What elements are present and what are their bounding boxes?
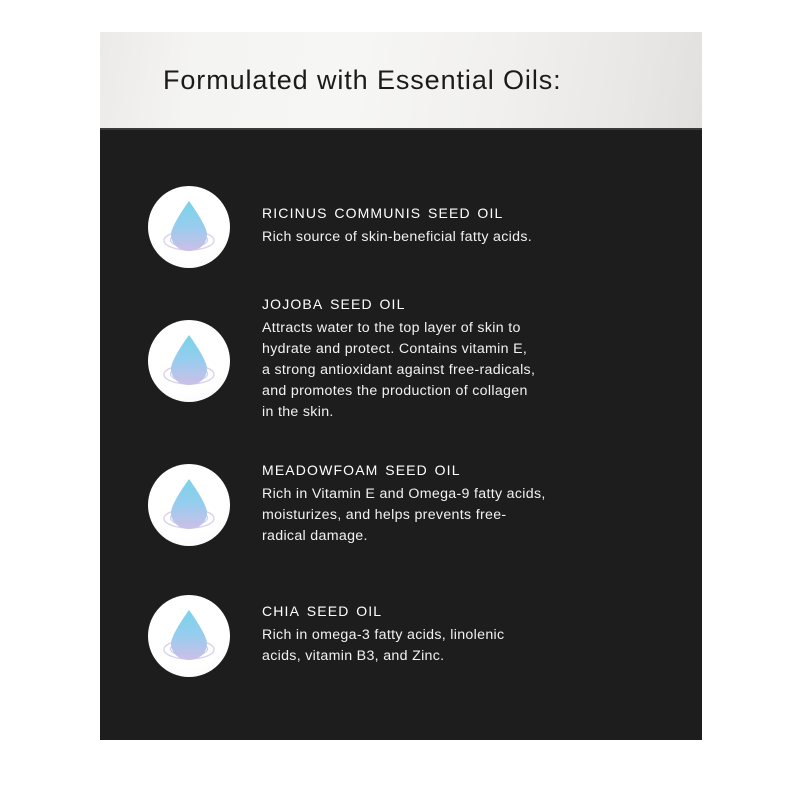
page-title: Formulated with Essential Oils: — [163, 65, 562, 96]
list-item-text: Jojoba Seed Oil Attracts water to the to… — [230, 292, 688, 422]
ingredient-description: Rich in Vitamin E and Omega-9 fatty acid… — [262, 484, 688, 547]
ingredient-description: Attracts water to the top layer of skin … — [262, 318, 688, 422]
droplet-icon-badge — [148, 464, 230, 546]
header-band: Formulated with Essential Oils: — [100, 32, 702, 130]
ingredient-title: Chia Seed Oil — [262, 599, 688, 622]
ingredient-description: Rich in omega-3 fatty acids, linolenic a… — [262, 625, 688, 667]
ingredient-list: Ricinus Communis Seed Oil Rich source of… — [100, 130, 702, 740]
list-item: Jojoba Seed Oil Attracts water to the to… — [148, 292, 688, 422]
list-item-text: Meadowfoam Seed Oil Rich in Vitamin E an… — [230, 452, 688, 547]
product-ingredient-infographic: Formulated with Essential Oils: — [0, 0, 800, 800]
list-item: Ricinus Communis Seed Oil Rich source of… — [148, 186, 688, 268]
ingredient-title: Jojoba Seed Oil — [262, 292, 688, 315]
droplet-icon-badge — [148, 186, 230, 268]
ingredient-title: Ricinus Communis Seed Oil — [262, 201, 688, 224]
water-droplet-icon — [158, 330, 220, 392]
ingredient-title: Meadowfoam Seed Oil — [262, 458, 688, 481]
list-item: Chia Seed Oil Rich in omega-3 fatty acid… — [148, 585, 688, 677]
list-item: Meadowfoam Seed Oil Rich in Vitamin E an… — [148, 452, 688, 547]
list-item-text: Ricinus Communis Seed Oil Rich source of… — [230, 186, 688, 248]
droplet-icon-badge — [148, 320, 230, 402]
ingredients-panel: Ricinus Communis Seed Oil Rich source of… — [100, 130, 702, 740]
ingredient-description: Rich source of skin-beneficial fatty aci… — [262, 227, 688, 248]
list-item-text: Chia Seed Oil Rich in omega-3 fatty acid… — [230, 585, 688, 667]
water-droplet-icon — [158, 474, 220, 536]
droplet-icon-badge — [148, 595, 230, 677]
water-droplet-icon — [158, 605, 220, 667]
water-droplet-icon — [158, 196, 220, 258]
